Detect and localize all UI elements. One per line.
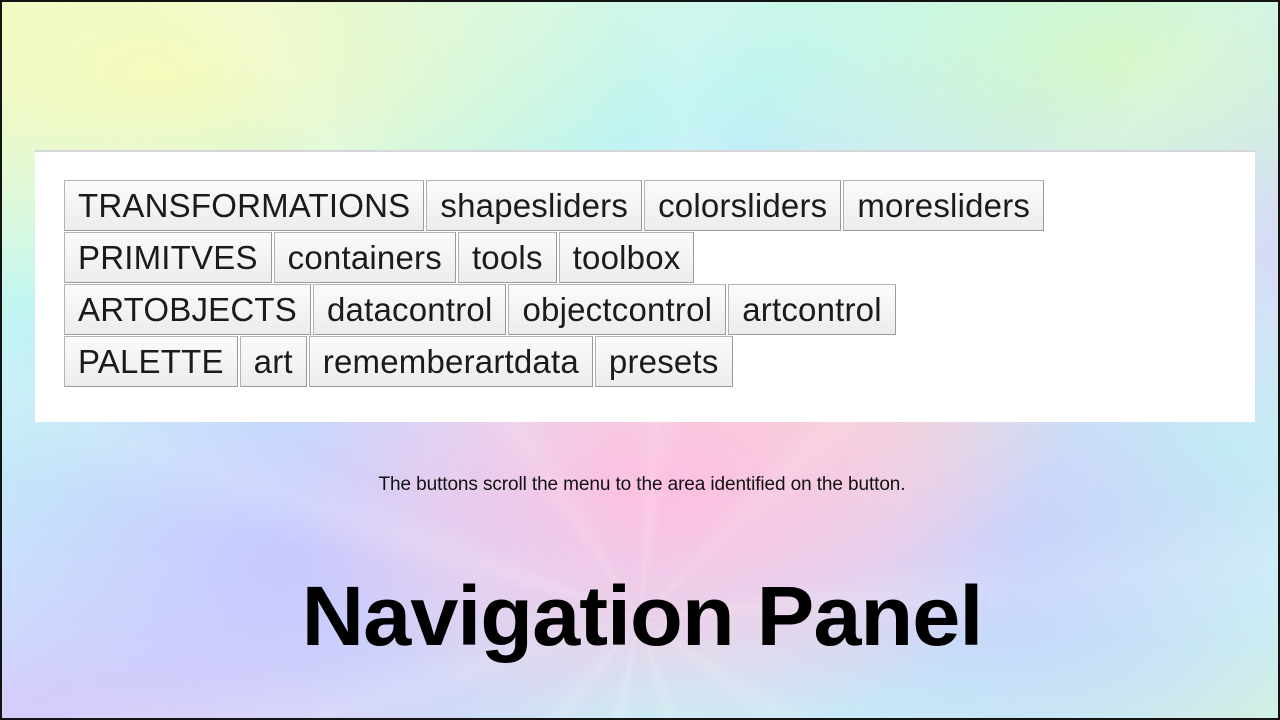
nav-button-palette[interactable]: PALETTE	[64, 336, 238, 387]
navigation-button-grid: TRANSFORMATIONS shapesliders colorslider…	[64, 180, 1044, 388]
nav-button-art[interactable]: art	[240, 336, 307, 387]
nav-button-datacontrol[interactable]: datacontrol	[313, 284, 506, 335]
nav-button-rememberartdata[interactable]: rememberartdata	[309, 336, 593, 387]
nav-button-tools[interactable]: tools	[458, 232, 557, 283]
button-row-palette: PALETTE art rememberartdata presets	[64, 336, 1044, 387]
nav-button-artobjects[interactable]: ARTOBJECTS	[64, 284, 311, 335]
button-row-transformations: TRANSFORMATIONS shapesliders colorslider…	[64, 180, 1044, 231]
nav-button-presets[interactable]: presets	[595, 336, 733, 387]
nav-button-primitves[interactable]: PRIMITVES	[64, 232, 272, 283]
nav-button-toolbox[interactable]: toolbox	[559, 232, 695, 283]
nav-button-colorsliders[interactable]: colorsliders	[644, 180, 841, 231]
nav-button-moresliders[interactable]: moresliders	[843, 180, 1044, 231]
nav-button-objectcontrol[interactable]: objectcontrol	[508, 284, 726, 335]
nav-button-containers[interactable]: containers	[274, 232, 456, 283]
slide-canvas: TRANSFORMATIONS shapesliders colorslider…	[0, 0, 1280, 720]
navigation-panel-screenshot: TRANSFORMATIONS shapesliders colorslider…	[35, 150, 1255, 422]
button-row-artobjects: ARTOBJECTS datacontrol objectcontrol art…	[64, 284, 1044, 335]
panel-caption: The buttons scroll the menu to the area …	[2, 474, 1280, 496]
nav-button-transformations[interactable]: TRANSFORMATIONS	[64, 180, 424, 231]
nav-button-shapesliders[interactable]: shapesliders	[426, 180, 642, 231]
button-row-primitves: PRIMITVES containers tools toolbox	[64, 232, 1044, 283]
slide-title: Navigation Panel	[0, 574, 1280, 658]
nav-button-artcontrol[interactable]: artcontrol	[728, 284, 896, 335]
